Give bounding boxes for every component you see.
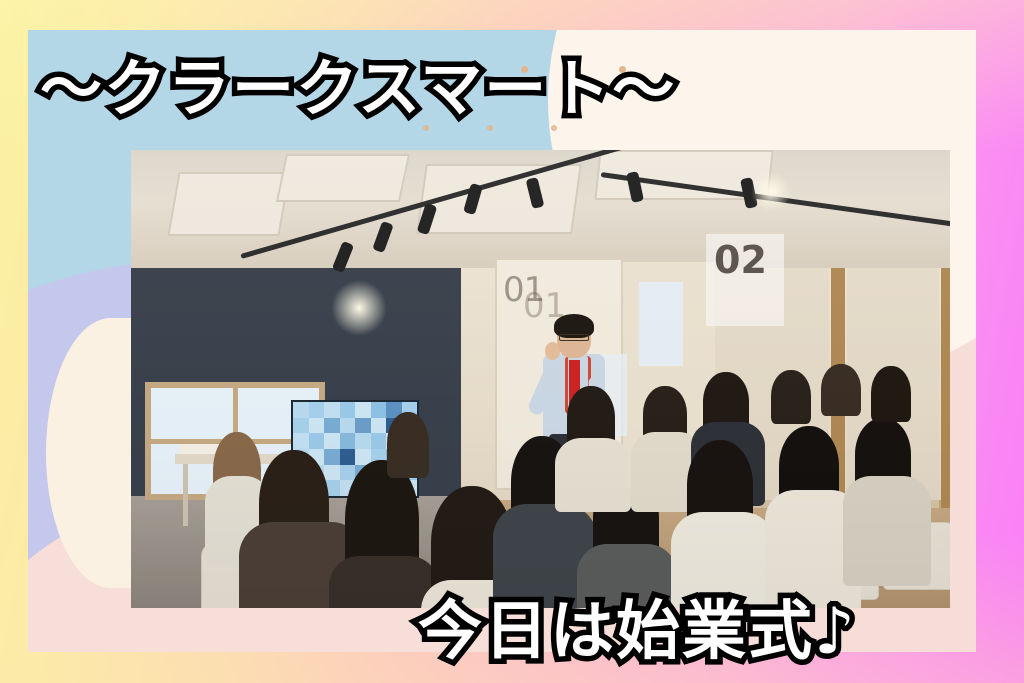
presenter-glasses-icon xyxy=(559,334,589,341)
light-glow xyxy=(751,172,791,212)
audience-person xyxy=(387,412,429,478)
audience-person-body xyxy=(555,438,631,512)
audience-person xyxy=(871,366,911,422)
classroom-photo: 01 01 02 xyxy=(131,150,950,608)
room-number-02: 02 xyxy=(714,238,767,282)
table-leg xyxy=(183,464,188,526)
light-glow xyxy=(331,280,387,336)
page-title: 〜クラークスマート〜 xyxy=(40,38,676,128)
audience-person-body xyxy=(843,476,931,586)
ceiling-vent xyxy=(167,172,290,236)
screenshot-root: 01 01 02 xyxy=(0,0,1024,683)
ceiling-vent xyxy=(276,154,410,202)
page-subtitle: 今日は始業式♪ xyxy=(418,580,857,672)
audience-person xyxy=(771,370,811,424)
audience-person xyxy=(821,364,861,416)
interior-window xyxy=(639,282,683,366)
